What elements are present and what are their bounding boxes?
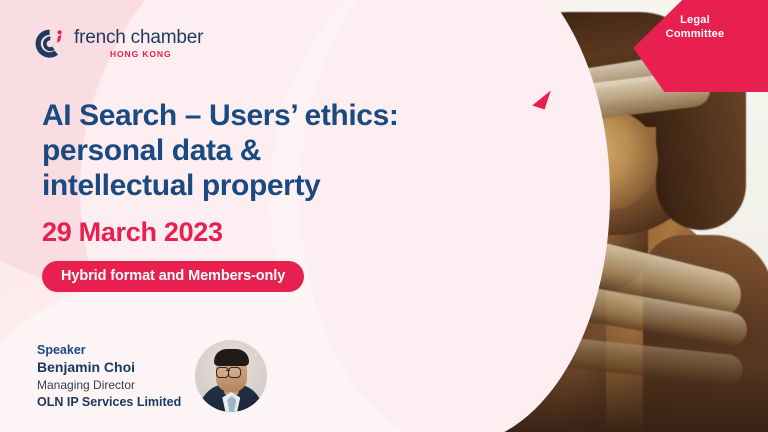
format-badge: Hybrid format and Members-only: [42, 261, 304, 292]
committee-banner-label: Legal Committee: [636, 13, 754, 41]
title-line-3: intellectual property: [42, 168, 562, 203]
page-title: AI Search – Users’ ethics: personal data…: [42, 98, 562, 203]
event-date: 29 March 2023: [42, 217, 562, 248]
speaker-headshot-avatar: [195, 340, 267, 412]
avatar-glasses-right-lens: [228, 367, 241, 378]
speaker-info: Speaker Benjamin Choi Managing Director …: [37, 342, 181, 410]
title-line-1: AI Search – Users’ ethics:: [42, 98, 562, 133]
committee-label-line2: Committee: [636, 27, 754, 41]
event-poster: Legal Committee french chamber HONG KONG…: [0, 0, 768, 432]
speaker-organisation: OLN IP Services Limited: [37, 394, 181, 410]
speaker-name: Benjamin Choi: [37, 359, 181, 377]
committee-label-line1: Legal: [636, 13, 754, 27]
speaker-label: Speaker: [37, 342, 181, 358]
speaker-role: Managing Director: [37, 378, 181, 393]
event-content: AI Search – Users’ ethics: personal data…: [42, 0, 562, 292]
speaker-block: Speaker Benjamin Choi Managing Director …: [37, 340, 267, 412]
avatar-glasses-bridge: [226, 370, 230, 371]
avatar-hair: [214, 349, 249, 366]
title-line-2: personal data &: [42, 133, 562, 168]
